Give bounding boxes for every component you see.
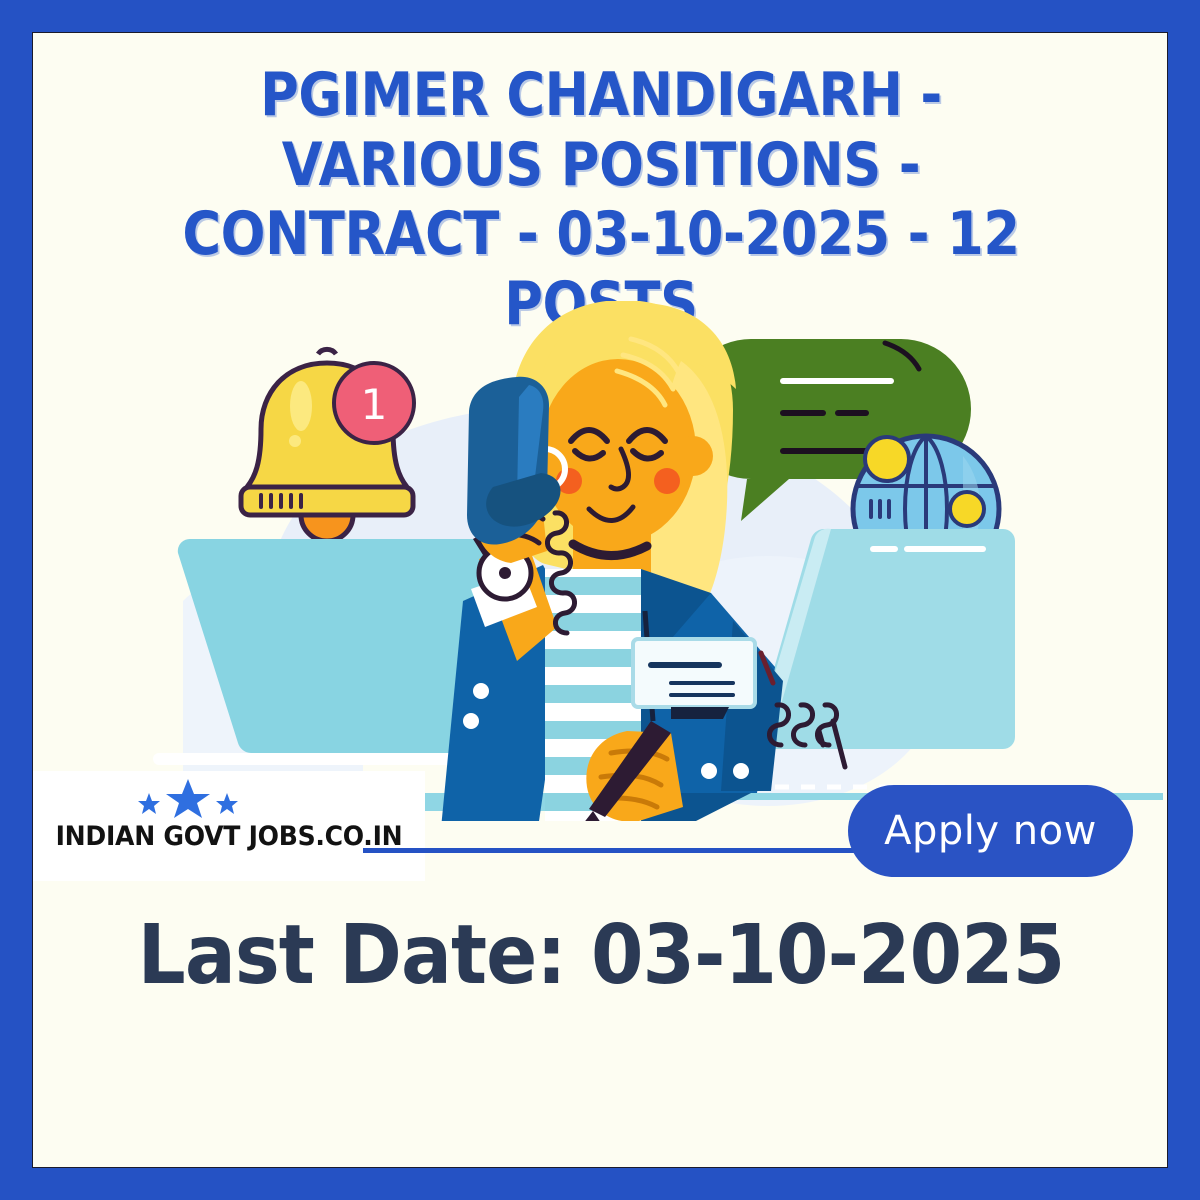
- logo-text: INDIAN GOVT JOBS.CO.IN: [47, 821, 412, 852]
- notification-bell-icon: 1: [241, 349, 414, 541]
- page-title: PGIMER CHANDIGARH - VARIOUS POSITIONS - …: [128, 61, 1075, 339]
- apply-now-button[interactable]: Apply now: [848, 785, 1133, 877]
- bell-badge-count: 1: [361, 380, 388, 429]
- divider-rule: [363, 848, 923, 853]
- hero-illustration: 1: [33, 301, 1168, 821]
- site-logo[interactable]: INDIAN GOVT JOBS.CO.IN: [33, 771, 425, 881]
- note-card: [633, 639, 755, 719]
- logo-stars-icon: [133, 777, 243, 819]
- poster-canvas: PGIMER CHANDIGARH - VARIOUS POSITIONS - …: [32, 32, 1168, 1168]
- last-date-text: Last Date: 03-10-2025: [134, 903, 1069, 1010]
